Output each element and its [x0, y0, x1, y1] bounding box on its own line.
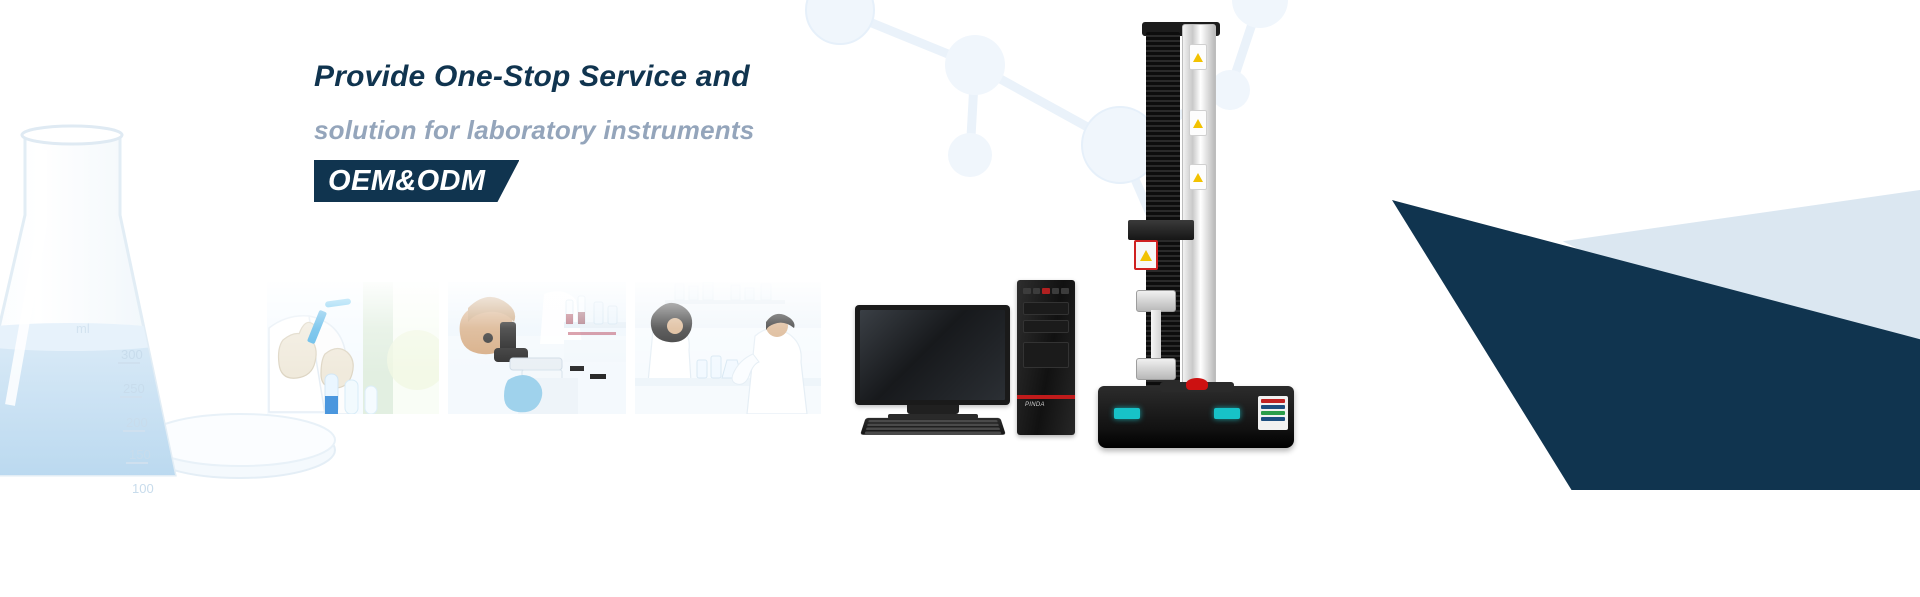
monitor-screen	[860, 310, 1005, 400]
universal-testing-machine	[1090, 14, 1300, 444]
tower-accent-stripe	[1017, 395, 1075, 399]
svg-text:250: 250	[123, 381, 145, 396]
pipetting-lab-photo	[267, 282, 439, 414]
svg-text:200: 200	[126, 415, 148, 430]
svg-text:ml: ml	[76, 321, 90, 336]
utm-load-cell-warning	[1134, 240, 1158, 270]
promo-banner: 300 250 200 150 100 ml Provide One-Stop …	[0, 0, 1920, 597]
tower-drive-bay	[1023, 302, 1069, 315]
utm-status-light	[1214, 408, 1240, 419]
monitor-stand	[907, 405, 959, 414]
monitor-bezel	[855, 305, 1010, 405]
utm-test-specimen	[1151, 310, 1161, 360]
warning-triangle-icon	[1140, 250, 1152, 261]
tower-brand-logo: PINDA	[1025, 402, 1045, 408]
svg-text:100: 100	[132, 481, 154, 496]
warning-triangle-icon	[1193, 119, 1203, 128]
oem-odm-badge: OEM&ODM	[314, 160, 519, 202]
utm-warning-label	[1189, 110, 1207, 136]
svg-text:300: 300	[121, 347, 143, 362]
keyboard-keys	[860, 418, 1007, 437]
desktop-monitor	[855, 305, 1010, 420]
tower-drive-bay	[1023, 320, 1069, 333]
oem-odm-badge-wrapper: OEM&ODM	[314, 160, 519, 202]
utm-status-light	[1114, 408, 1140, 419]
lab-photo-strip	[267, 282, 821, 414]
equipment-group: PINDA	[845, 0, 1315, 480]
lab-bench-photo	[635, 282, 821, 414]
utm-control-panel[interactable]	[1258, 396, 1288, 430]
pc-tower: PINDA	[1017, 280, 1075, 435]
warning-triangle-icon	[1193, 173, 1203, 182]
utm-guide-column	[1182, 24, 1216, 396]
svg-text:150: 150	[129, 447, 151, 462]
warning-triangle-icon	[1193, 53, 1203, 62]
utm-crosshead	[1128, 220, 1194, 240]
utm-lower-grip	[1136, 358, 1176, 380]
emergency-stop-button[interactable]	[1186, 378, 1208, 390]
tower-front-ports	[1023, 288, 1069, 294]
microscope-lab-photo	[448, 282, 626, 414]
utm-base-unit	[1098, 386, 1294, 448]
tower-drive-bay	[1023, 342, 1069, 368]
utm-upper-grip	[1136, 290, 1176, 312]
computer-keyboard	[860, 418, 1006, 435]
utm-warning-label	[1189, 164, 1207, 190]
utm-warning-label	[1189, 44, 1207, 70]
